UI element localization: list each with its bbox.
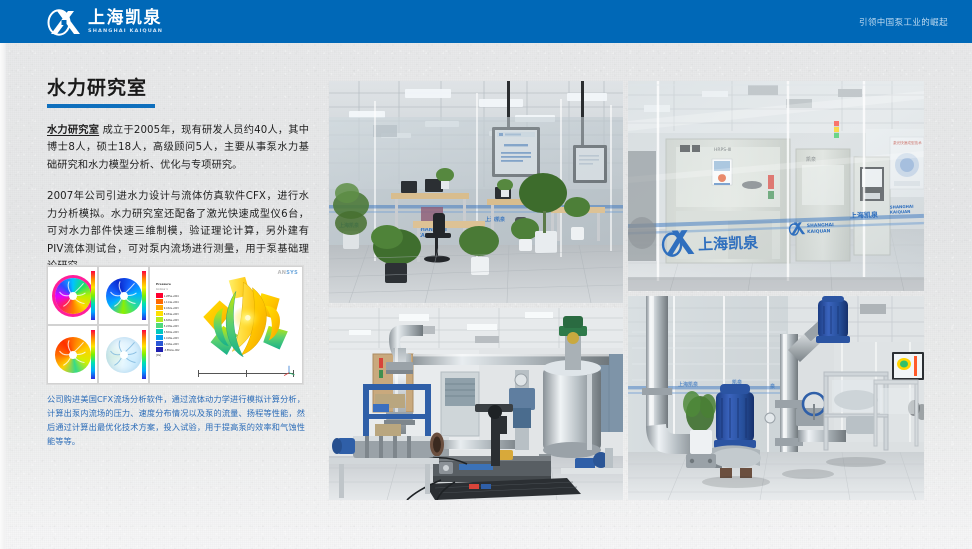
photo-research-office-image: 上海凯泉 SHANGHAI KAIQUAN 上海凯泉 上海凯泉	[329, 81, 623, 303]
legend-value: 3.820e+003	[163, 331, 179, 334]
photo-piv-test-rig-image	[329, 308, 623, 500]
kaiquan-k-logo-icon	[47, 9, 81, 36]
brand-logo[interactable]: 上海凯泉 SHANGHAI KAIQUAN	[47, 8, 163, 36]
legend-swatch	[156, 293, 163, 298]
impeller-contour-pink-rainbow	[47, 266, 98, 325]
legend-value: 8.034e+003	[163, 313, 179, 316]
axis-triad-icon	[282, 363, 296, 377]
pressure-legend: Pressure Contour 1 1.285e+004 1.114e+004…	[156, 281, 186, 359]
paragraph-lead-term: 水力研究室	[47, 125, 99, 136]
impeller-contour-blue	[98, 266, 149, 325]
impeller-contour-pale	[98, 325, 149, 384]
legend-scale-list: 1.285e+004 1.114e+004 9.432e+003 8.034e+…	[156, 293, 186, 353]
svg-text:上海凯泉: 上海凯泉	[485, 216, 506, 223]
legend-swatch	[156, 299, 163, 304]
brand-name-cn: 上海凯泉	[88, 10, 163, 27]
slide-header: 上海凯泉 SHANGHAI KAIQUAN 引领中国泵工业的崛起	[0, 0, 972, 43]
svg-text:KAIQUAN: KAIQUAN	[890, 209, 911, 215]
legend-value: 2.418e+003	[163, 337, 179, 340]
legend-swatch	[156, 347, 163, 352]
legend-swatch	[156, 329, 163, 334]
cfd-figure-caption: 公司购进美国CFX流场分析软件，通过流体动力学进行模拟计算分析，计算出泵内流场的…	[47, 392, 305, 448]
legend-swatch	[156, 305, 163, 310]
impeller-3d-render-icon	[196, 275, 296, 361]
header-slogan: 引领中国泵工业的崛起	[859, 0, 948, 43]
svg-text:上海凯泉: 上海凯泉	[850, 210, 879, 220]
paragraph-capabilities: 2007年公司引进水力设计与流体仿真软件CFX，进行水力分析模拟。水力研究室还配…	[47, 188, 309, 276]
legend-value: 9.432e+003	[163, 307, 179, 310]
slide-left-edge	[0, 43, 7, 549]
brand-name-en: SHANGHAI KAIQUAN	[88, 29, 163, 34]
legend-swatch	[156, 335, 163, 340]
left-content-column: 水力研究室 水力研究室 成立于2005年，现有研发人员约40人，其中博士8人，硕…	[47, 78, 309, 290]
legend-swatch	[156, 311, 163, 316]
paragraph-overview: 水力研究室 成立于2005年，现有研发人员约40人，其中博士8人，硕士18人，高…	[47, 122, 309, 175]
scale-bar	[198, 370, 294, 378]
legend-value: 1.016e+003	[163, 343, 179, 346]
slide-root: 上海凯泉 SHANGHAI KAIQUAN 引领中国泵工业的崛起 水力研究室 水…	[0, 0, 972, 549]
svg-text:上海凯泉: 上海凯泉	[678, 381, 699, 388]
title-underline-rule	[47, 104, 155, 108]
svg-text:上海凯泉: 上海凯泉	[698, 234, 760, 254]
photo-piv-test-rig[interactable]	[329, 308, 623, 500]
svg-text:SHANGHAI: SHANGHAI	[807, 222, 834, 229]
legend-value: -3.852e+002	[163, 349, 180, 352]
legend-swatch	[156, 323, 163, 328]
legend-swatch	[156, 317, 163, 322]
photo-pump-test-loop-image: 上海凯泉 凯泉 泉	[628, 296, 924, 500]
svg-text:KAIQUAN: KAIQUAN	[807, 228, 831, 235]
legend-value: 1.285e+004	[163, 295, 179, 298]
svg-text:泉: 泉	[769, 383, 776, 390]
legend-value: 5.228e+003	[163, 325, 179, 328]
legend-footer: [Pa]	[156, 353, 186, 359]
legend-value: 6.626e+003	[163, 319, 179, 322]
photo-research-office[interactable]: 上海凯泉 SHANGHAI KAIQUAN 上海凯泉 上海凯泉	[329, 81, 623, 303]
page-title: 水力研究室	[47, 78, 309, 99]
legend-value: 1.114e+004	[163, 301, 179, 304]
impeller-contour-orange	[47, 325, 98, 384]
photo-pump-test-loop[interactable]: 上海凯泉 凯泉 泉	[628, 296, 924, 500]
cfd-3d-impeller-view: ANSYS Pressure Contour 1 1.285e+004 1.11…	[149, 266, 303, 384]
cfd-contour-grid	[47, 266, 149, 384]
legend-swatch	[156, 341, 163, 346]
photo-laser-prototyping-lab-image: HRPS-Ⅲ 凯泉	[628, 81, 924, 291]
cfd-impeller-analysis-figure: ANSYS Pressure Contour 1 1.285e+004 1.11…	[46, 265, 304, 385]
photo-laser-prototyping-lab[interactable]: HRPS-Ⅲ 凯泉	[628, 81, 924, 291]
